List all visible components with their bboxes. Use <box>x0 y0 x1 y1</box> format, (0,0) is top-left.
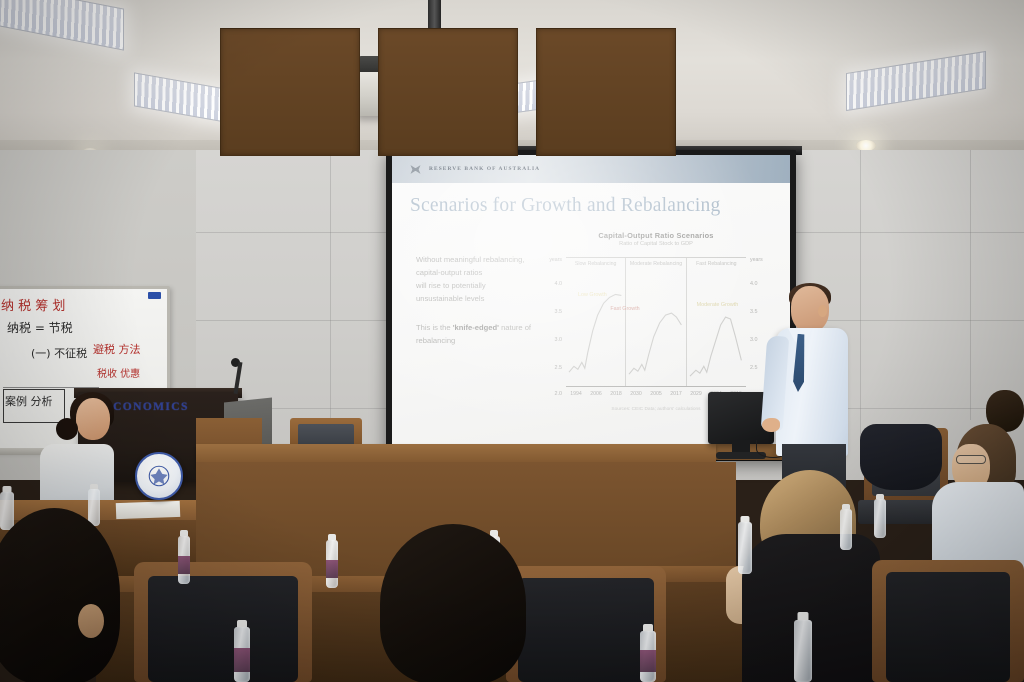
water-bottle[interactable] <box>88 484 100 526</box>
chart-panel-moderate: Moderate Rebalancing Fast Growth <box>626 258 686 386</box>
presenter-ear <box>818 305 827 317</box>
moderator-hair-bun <box>56 418 78 440</box>
bottle-body <box>0 492 14 530</box>
panel-line-fast <box>687 258 746 386</box>
whiteboard-note: 避税 方法 <box>93 341 141 357</box>
wall-seam <box>970 150 971 420</box>
water-bottle[interactable] <box>874 494 886 538</box>
water-bottle[interactable] <box>738 516 752 574</box>
bullet2-pre: This is the <box>416 323 453 332</box>
slide-bullet-line: will rise to potentially <box>416 279 534 292</box>
slide-bullet-line: capital-output ratios <box>416 266 534 279</box>
lecture-hall-photo: 纳 税 筹 划 纳税 = 节税 (一) 不征税 避税 方法 税收 优惠 案例 分… <box>0 0 1024 682</box>
audience-chair-cushion[interactable] <box>886 572 1010 682</box>
slide-bullet-knife-edged: This is the 'knife-edged' nature of reba… <box>416 321 534 347</box>
y-tick: 3.5 <box>555 309 563 315</box>
x-tick: 2030 <box>626 391 646 397</box>
whiteboard-note: 纳 税 筹 划 <box>1 295 65 314</box>
audience-chair-cushion[interactable] <box>148 576 298 682</box>
whiteboard-note: 税收 优惠 <box>97 365 140 380</box>
water-bottle[interactable] <box>0 486 14 530</box>
bottle-body <box>738 522 752 574</box>
y-tick: 2.0 <box>555 391 563 397</box>
slide-org-name: RESERVE BANK OF AUSTRALIA <box>429 166 540 172</box>
y-tick: 4.0 <box>555 281 563 287</box>
y-tick: 3.5 <box>750 309 758 315</box>
annotation-moderate-growth: Moderate Growth <box>697 302 739 309</box>
bottle-label <box>178 556 190 574</box>
presenter-hand <box>762 418 780 432</box>
y-axis-unit-left: years <box>549 257 562 263</box>
bottle-label <box>640 650 656 672</box>
chart-y-axis-left: years 4.0 3.5 3.0 2.5 2.0 <box>540 267 564 387</box>
annotation-low-growth: Low Growth <box>578 292 607 299</box>
rba-emblem-icon <box>408 162 423 177</box>
bottle-body <box>794 620 812 682</box>
slide-title: Scenarios for Growth and Rebalancing <box>410 195 720 217</box>
y-tick: 2.5 <box>555 365 563 371</box>
bench-panel <box>220 28 360 156</box>
water-bottle[interactable] <box>840 504 852 550</box>
y-tick: 3.0 <box>555 337 563 343</box>
slide-bullet-line: Without meaningful rebalancing, <box>416 253 534 266</box>
x-tick: 1994 <box>566 391 586 397</box>
panel-line-slow <box>566 258 625 386</box>
y-tick: 2.5 <box>750 365 758 371</box>
bottle-body <box>88 489 100 526</box>
whiteboard-note: (一) 不征税 <box>31 345 87 361</box>
foreground-attendee-head <box>380 524 526 682</box>
bottle-label <box>326 560 338 578</box>
bottle-cap <box>643 624 653 631</box>
slide-header-bar: RESERVE BANK OF AUSTRALIA <box>392 155 790 183</box>
y-tick: 3.0 <box>750 337 758 343</box>
x-tick: 2017 <box>666 391 686 397</box>
slide-bullets: Without meaningful rebalancing, capital-… <box>416 253 534 347</box>
chart-panels: Slow Rebalancing Low Growth Moderate Reb… <box>566 257 746 387</box>
water-bottle[interactable] <box>234 620 250 682</box>
stage-chair-cushion[interactable] <box>298 424 354 446</box>
bottle-body <box>840 509 852 550</box>
slide-bullet-line: unsustainable levels <box>416 292 534 305</box>
water-bottle[interactable] <box>640 624 656 682</box>
bench-panel <box>536 28 676 156</box>
chart-panel-slow: Slow Rebalancing Low Growth <box>566 258 626 386</box>
whiteboard-note: 纳税 = 节税 <box>7 319 73 336</box>
chart-subtitle: Ratio of Capital Stock to GDP <box>540 241 772 247</box>
bottle-label <box>234 648 250 672</box>
podium-label: ECONOMICS <box>104 401 189 413</box>
wall-seam <box>860 150 861 450</box>
draped-jacket <box>860 424 942 490</box>
plate-emblem <box>146 463 172 489</box>
y-tick: 4.0 <box>750 281 758 287</box>
water-bottle[interactable] <box>178 530 190 584</box>
whiteboard-box <box>3 389 65 423</box>
bottle-body <box>874 499 886 538</box>
moderator-head <box>76 398 110 440</box>
eyeglasses-icon <box>956 455 986 464</box>
bullet2-emphasis: 'knife-edged' <box>453 323 499 332</box>
chart-panel-fast: Fast Rebalancing Moderate Growth <box>687 258 746 386</box>
foreground-attendee-ear <box>78 604 104 638</box>
annotation-fast-growth: Fast Growth <box>610 306 639 313</box>
y-axis-unit-right: years <box>750 257 763 263</box>
panel-line-moderate <box>626 258 685 386</box>
chart-title: Capital-Output Ratio Scenarios <box>540 231 772 240</box>
water-bottle[interactable] <box>326 534 338 588</box>
x-tick: 2006 <box>586 391 606 397</box>
water-bottle[interactable] <box>794 612 812 682</box>
x-tick: 2029 <box>686 391 706 397</box>
whiteboard-magnet <box>148 292 161 299</box>
x-tick: 2005 <box>646 391 666 397</box>
foreground-attendee-head <box>0 508 120 682</box>
bottle-cap <box>237 620 247 627</box>
moderator-papers <box>116 501 181 519</box>
capital-output-chart: Capital-Output Ratio Scenarios Ratio of … <box>540 231 772 411</box>
ceremonial-plate-icon <box>135 452 183 500</box>
x-tick: 2018 <box>606 391 626 397</box>
chart-plot-area: years 4.0 3.5 3.0 2.5 2.0 Slow Rebalanci… <box>540 253 772 395</box>
wall-seam <box>330 150 331 460</box>
bench-panel <box>378 28 518 156</box>
bottle-cap <box>798 612 809 620</box>
audience-chair-cushion[interactable] <box>518 578 654 682</box>
